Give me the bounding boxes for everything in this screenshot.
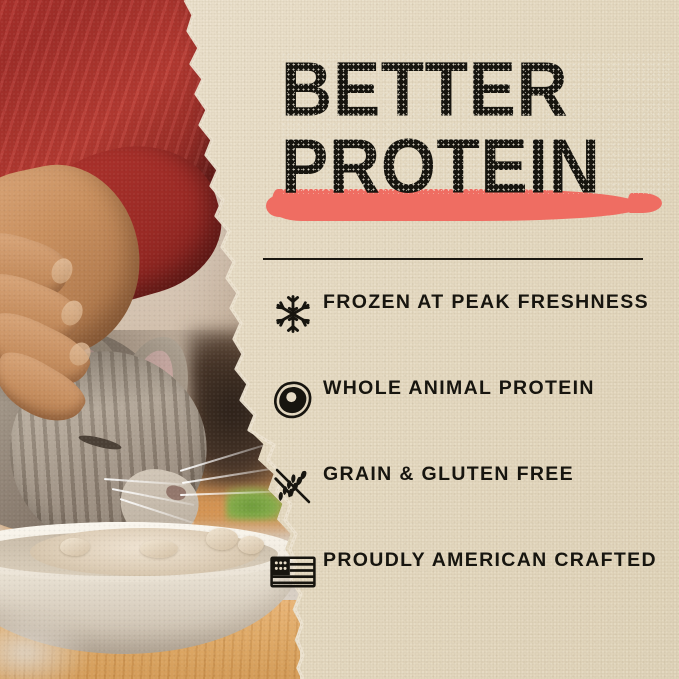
feature-label: WHOLE ANIMAL PROTEIN <box>323 372 595 401</box>
feature-item-american: PROUDLY AMERICAN CRAFTED <box>263 544 663 630</box>
meat-cut-icon <box>263 372 323 426</box>
headline: BETTER PROTEIN <box>281 52 671 194</box>
usa-flag-icon <box>263 544 323 598</box>
feature-label: PROUDLY AMERICAN CRAFTED <box>323 544 657 573</box>
product-feature-banner: BETTER PROTEIN <box>0 0 679 679</box>
snowflake-icon <box>263 286 323 340</box>
feature-list: FROZEN AT PEAK FRESHNESS WHOLE ANIMAL PR… <box>263 286 663 630</box>
feature-item-grain-free: GRAIN & GLUTEN FREE <box>263 458 663 544</box>
wheat-crossed-icon <box>263 458 323 512</box>
divider <box>263 258 643 260</box>
feature-item-protein: WHOLE ANIMAL PROTEIN <box>263 372 663 458</box>
feature-item-frozen: FROZEN AT PEAK FRESHNESS <box>263 286 663 372</box>
headline-line-2: PROTEIN <box>281 129 679 204</box>
feature-label: FROZEN AT PEAK FRESHNESS <box>323 286 649 315</box>
feature-label: GRAIN & GLUTEN FREE <box>323 458 574 487</box>
headline-line-1: BETTER <box>281 52 679 127</box>
